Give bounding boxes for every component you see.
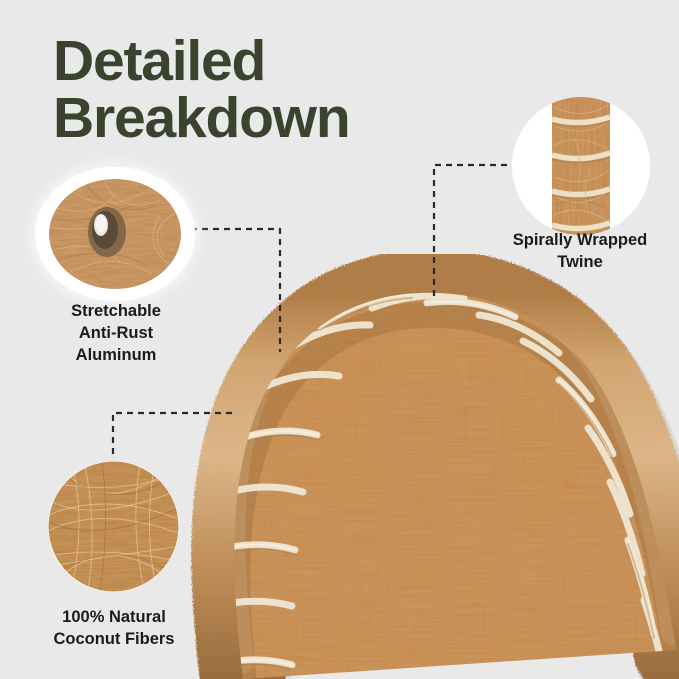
callout-fibers-label: 100% Natural Coconut Fibers: [23, 606, 205, 650]
callout-aluminum-label: Stretchable Anti-Rust Aluminum: [22, 300, 210, 366]
coir-pole-twine-wrap-closeup-photo: [512, 97, 650, 235]
callout-twine-label: Spirally Wrapped Twine: [470, 229, 679, 273]
coir-pole-end-with-aluminum-core-photo: [44, 176, 186, 292]
leader-line-fibers: [113, 413, 232, 457]
coconut-coir-fiber-closeup-photo: [48, 461, 179, 592]
infographic-canvas: Detailed Breakdown: [0, 0, 679, 679]
